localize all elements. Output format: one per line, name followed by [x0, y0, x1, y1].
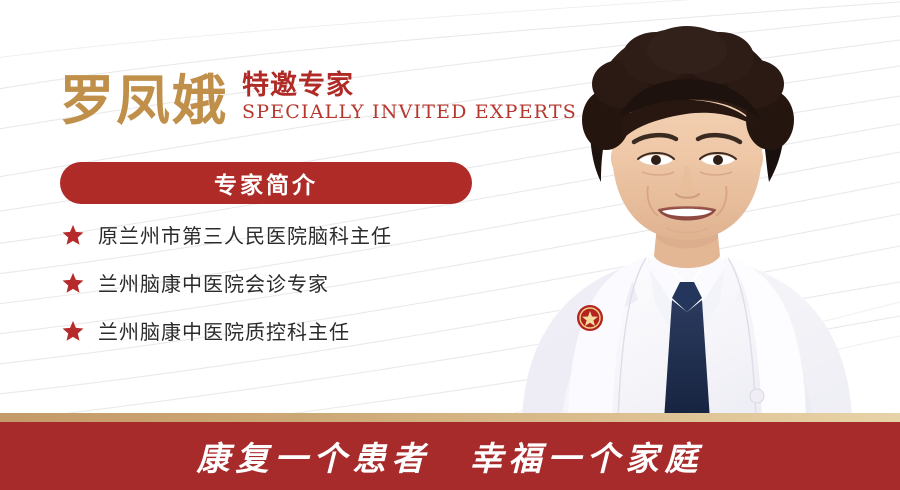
section-header-pill: 专家简介	[60, 162, 472, 204]
expert-profile-banner: 罗凤娥 特邀专家 SPECIALLY INVITED EXPERTS 专家简介 …	[0, 0, 900, 490]
list-item: 兰州脑康中医院会诊专家	[62, 268, 392, 297]
star-icon	[62, 272, 84, 294]
list-item: 原兰州市第三人民医院脑科主任	[62, 220, 392, 249]
doctor-portrait	[470, 0, 900, 420]
star-icon	[62, 224, 84, 246]
section-header-label: 专家简介	[214, 166, 318, 200]
credential-text: 兰州脑康中医院质控科主任	[98, 316, 350, 345]
hospital-emblem-badge	[577, 305, 603, 331]
footer-slogan-band: 康复一个患者 幸福一个家庭	[0, 422, 900, 490]
doctor-portrait-illustration	[470, 0, 900, 420]
credential-text: 兰州脑康中医院会诊专家	[98, 268, 329, 297]
star-icon	[62, 320, 84, 342]
credential-text: 原兰州市第三人民医院脑科主任	[98, 220, 392, 249]
credentials-list: 原兰州市第三人民医院脑科主任 兰州脑康中医院会诊专家 兰州脑康中医院质控科主任	[62, 220, 392, 345]
list-item: 兰州脑康中医院质控科主任	[62, 316, 392, 345]
expert-name: 罗凤娥	[60, 74, 228, 128]
footer-slogan-text: 康复一个患者 幸福一个家庭	[197, 432, 704, 480]
gold-divider-strip	[0, 413, 900, 422]
